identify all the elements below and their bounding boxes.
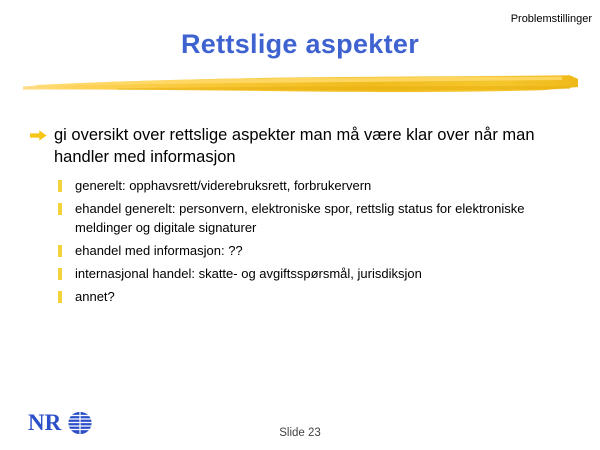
list-item-text: generelt: opphavsrett/viderebruksrett, f… bbox=[75, 178, 371, 193]
slide-kicker: Problemstillinger bbox=[511, 13, 592, 26]
list-item: annet? bbox=[58, 288, 582, 307]
list-item: ehandel generelt: personvern, elektronis… bbox=[58, 200, 582, 237]
list-item-text: ehandel generelt: personvern, elektronis… bbox=[75, 201, 524, 235]
main-bullet-text: gi oversikt over rettslige aspekter man … bbox=[54, 126, 535, 166]
main-bullet: gi oversikt over rettslige aspekter man … bbox=[30, 124, 582, 168]
slide-number: Slide 23 bbox=[0, 427, 600, 439]
list-item: generelt: opphavsrett/viderebruksrett, f… bbox=[58, 177, 582, 196]
list-item: ehandel med informasjon: ?? bbox=[58, 242, 582, 261]
vertical-bar-icon bbox=[58, 291, 62, 303]
page-title: Rettslige aspekter bbox=[0, 29, 600, 60]
vertical-bar-icon bbox=[58, 245, 62, 257]
list-item: internasjonal handel: skatte- og avgifts… bbox=[58, 265, 582, 284]
slide-canvas: Problemstillinger Rettslige aspekter bbox=[0, 0, 600, 450]
list-item-text: annet? bbox=[75, 289, 115, 304]
sub-bullet-list: generelt: opphavsrett/viderebruksrett, f… bbox=[30, 177, 582, 306]
vertical-bar-icon bbox=[58, 203, 62, 215]
vertical-bar-icon bbox=[58, 180, 62, 192]
slide-body: gi oversikt over rettslige aspekter man … bbox=[30, 124, 582, 311]
right-arrow-icon bbox=[30, 130, 47, 141]
list-item-text: ehandel med informasjon: ?? bbox=[75, 243, 243, 258]
gold-brush-divider bbox=[22, 70, 578, 96]
vertical-bar-icon bbox=[58, 268, 62, 280]
brush-stroke-icon bbox=[22, 70, 578, 96]
list-item-text: internasjonal handel: skatte- og avgifts… bbox=[75, 266, 422, 281]
